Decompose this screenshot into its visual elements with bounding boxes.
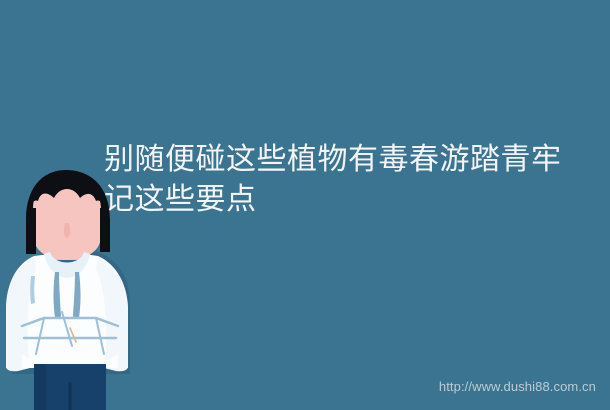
hair-side-left-shape — [28, 208, 36, 252]
page-title: 别随便碰这些植物有毒春游踏青牢记这些要点 — [104, 140, 574, 220]
image-canvas: 别随便碰这些植物有毒春游踏青牢记这些要点 http://www.dushi88.… — [0, 0, 610, 410]
site-watermark: http://www.dushi88.com.cn — [439, 379, 596, 394]
nose-shape — [64, 223, 70, 238]
pants-shadow-shape — [34, 364, 46, 410]
